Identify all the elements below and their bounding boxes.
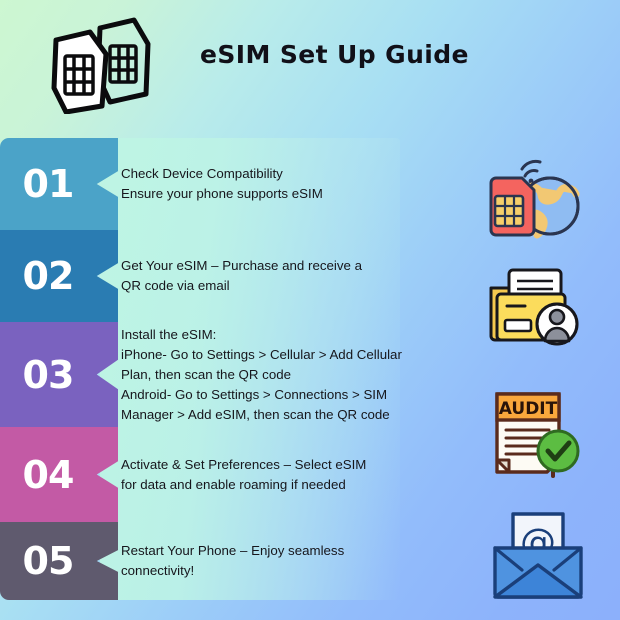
step-text: Install the eSIM: iPhone- Go to Settings… bbox=[121, 325, 461, 425]
step-number: 01 bbox=[0, 165, 96, 203]
step-number: 04 bbox=[0, 456, 96, 494]
document-user-icon bbox=[487, 262, 583, 348]
step-text-line: Get Your eSIM – Purchase and receive a bbox=[121, 256, 451, 276]
step-text-line: QR code via email bbox=[121, 276, 451, 296]
step-band: 05 bbox=[0, 522, 118, 600]
sim-card-globe-icon bbox=[484, 152, 588, 248]
dual-sim-cards-icon bbox=[42, 14, 162, 114]
step-text-line: for data and enable roaming if needed bbox=[121, 475, 451, 495]
step-text-line: Ensure your phone supports eSIM bbox=[121, 184, 451, 204]
step-text: Check Device Compatibility Ensure your p… bbox=[121, 164, 451, 204]
step-text-line: Android- Go to Settings > Connections > … bbox=[121, 385, 461, 405]
poster-header: eSIM Set Up Guide bbox=[0, 0, 620, 128]
step-band: 02 bbox=[0, 230, 118, 322]
step-text-line: iPhone- Go to Settings > Cellular > Add … bbox=[121, 345, 461, 365]
audit-label: AUDIT bbox=[499, 399, 558, 419]
step-text-line: connectivity! bbox=[121, 561, 451, 581]
step-band: 04 bbox=[0, 427, 118, 522]
audit-check-icon: AUDIT bbox=[487, 382, 583, 478]
step-text-line: Manager > Add eSIM, then scan the QR cod… bbox=[121, 405, 461, 425]
step-number: 03 bbox=[0, 356, 96, 394]
step-text-line: Activate & Set Preferences – Select eSIM bbox=[121, 455, 451, 475]
step-band: 03 bbox=[0, 322, 118, 427]
step-text-line: Install the eSIM: bbox=[121, 325, 461, 345]
step-number: 02 bbox=[0, 257, 96, 295]
step-text-line: Plan, then scan the QR code bbox=[121, 365, 461, 385]
page-title: eSIM Set Up Guide bbox=[200, 40, 600, 69]
step-number: 05 bbox=[0, 542, 96, 580]
step-text-line: Restart Your Phone – Enjoy seamless bbox=[121, 541, 451, 561]
step-text: Activate & Set Preferences – Select eSIM… bbox=[121, 455, 451, 495]
step-band: 01 bbox=[0, 138, 118, 230]
step-text-line: Check Device Compatibility bbox=[121, 164, 451, 184]
step-text: Get Your eSIM – Purchase and receive a Q… bbox=[121, 256, 451, 296]
infographic-poster: eSIM Set Up Guide 01 Check Device Compat… bbox=[0, 0, 620, 620]
step-text: Restart Your Phone – Enjoy seamless conn… bbox=[121, 541, 451, 581]
email-at-envelope-icon: @ bbox=[489, 512, 587, 600]
